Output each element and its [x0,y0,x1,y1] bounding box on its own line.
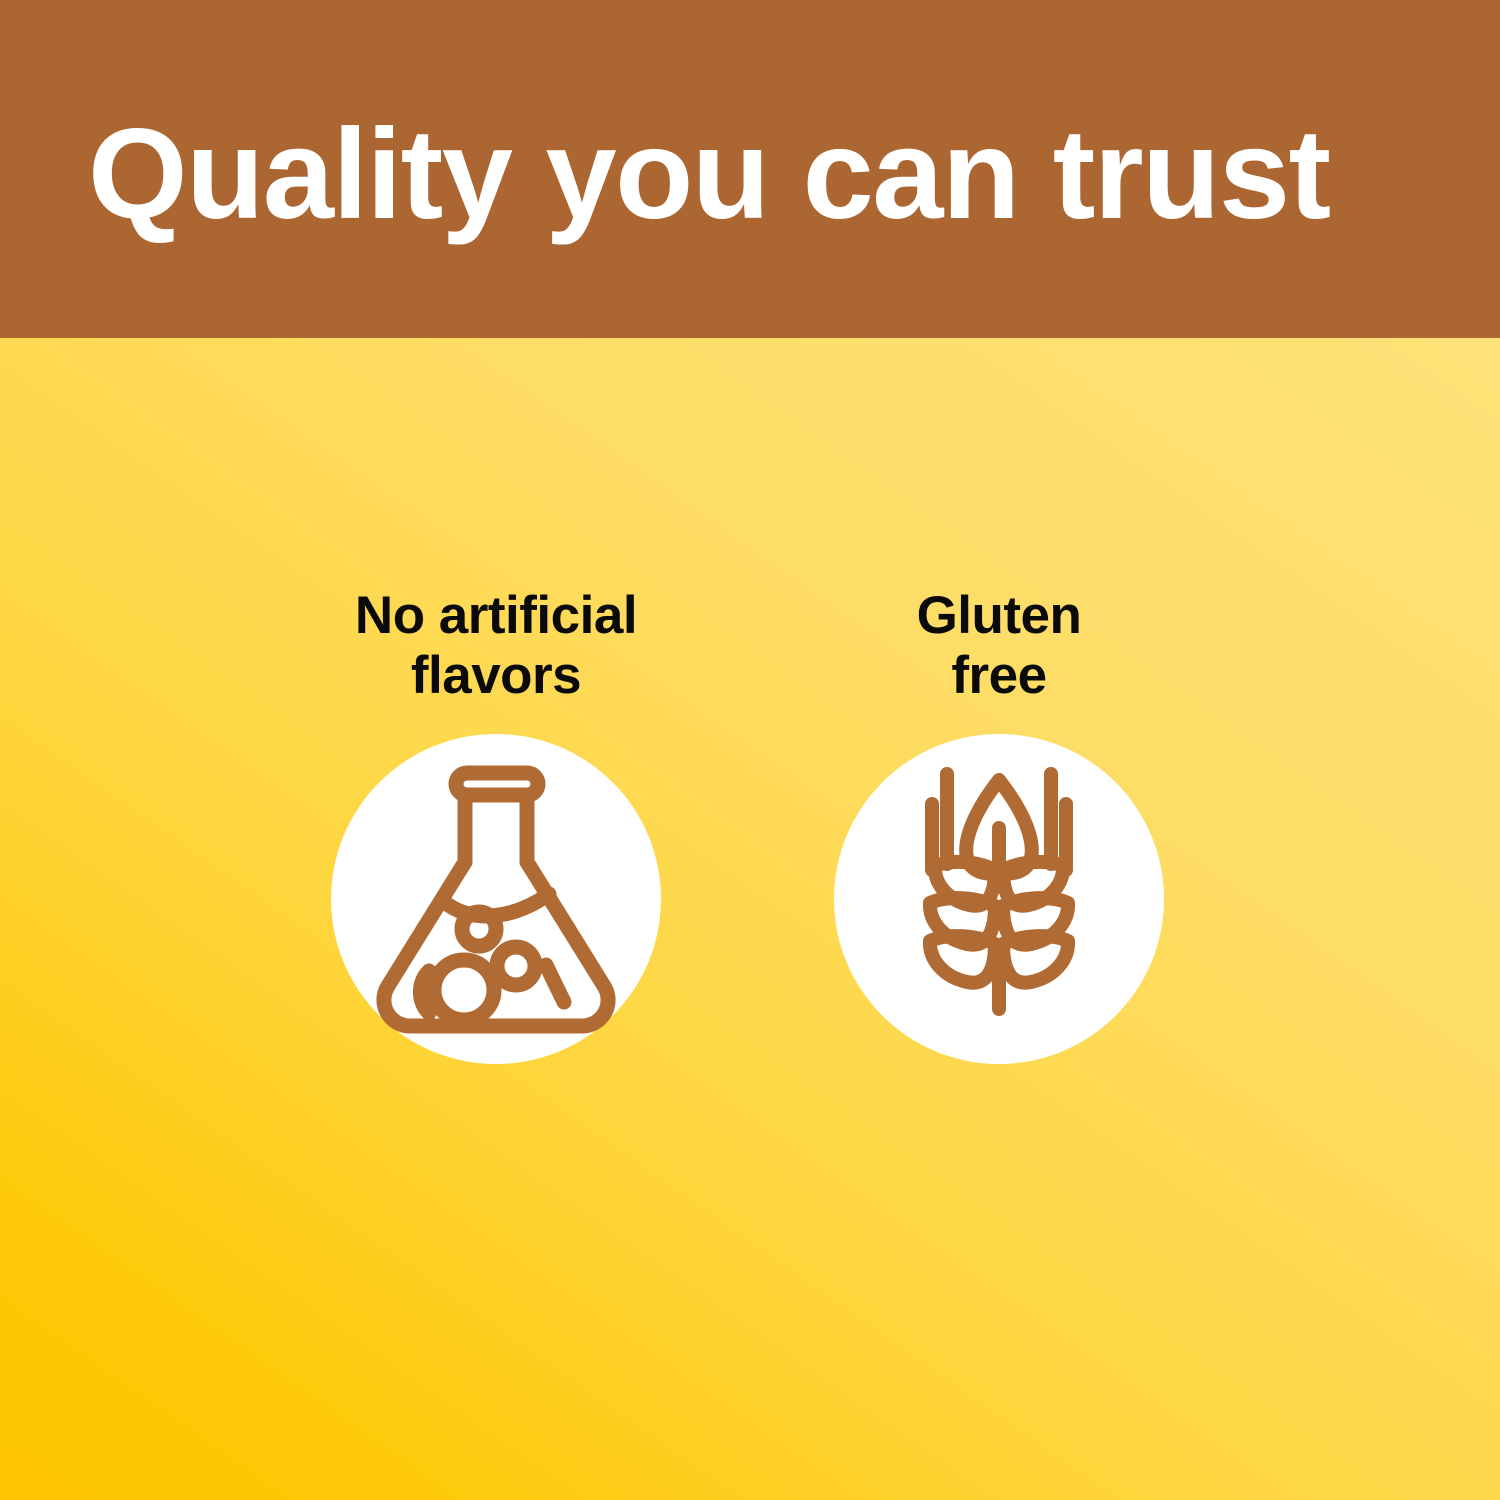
poster-root: Quality you can trust No artificial flav… [0,0,1500,1500]
badge-row: No artificial flavors [0,338,1500,1500]
badge-icon-wrap-no-artificial-flavors [286,734,706,1080]
badge-label-no-artificial-flavors: No artificial flavors [286,586,706,706]
badge-icon-wrap-gluten-free [789,734,1209,1080]
badge-label-gluten-free: Gluten free [789,586,1209,706]
badge-no-artificial-flavors: No artificial flavors [286,586,706,1080]
badge-gluten-free: Gluten free [789,586,1209,1080]
wheat-icon [834,734,1164,1064]
flask-icon [331,734,661,1064]
header-band: Quality you can trust [0,0,1500,338]
page-title: Quality you can trust [88,108,1428,242]
